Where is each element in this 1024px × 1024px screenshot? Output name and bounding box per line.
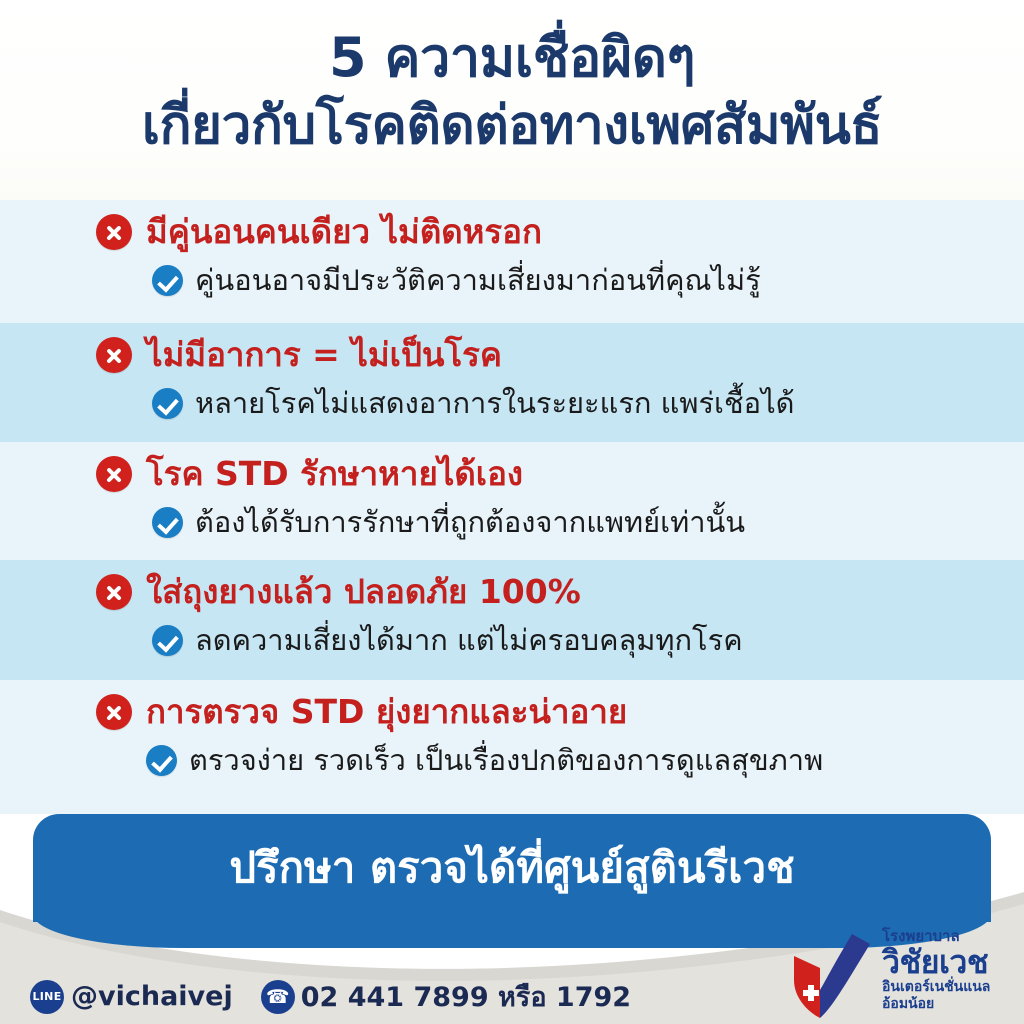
list-item: การตรวจ STD ยุ่งยากและน่าอาย ตรวจง่าย รว… (0, 680, 1024, 814)
list-item: มีคู่นอนคนเดียว ไม่ติดหรอก คู่นอนอาจมีปร… (0, 200, 1024, 323)
cross-icon (96, 214, 132, 250)
check-icon (146, 745, 177, 776)
cta-label: ปรึกษา ตรวจได้ที่ศูนย์สูตินรีเวช (33, 844, 991, 892)
phone-number-label: 02 441 7899 หรือ 1792 (301, 975, 631, 1018)
fact-text: ต้องได้รับการรักษาที่ถูกต้องจากแพทย์เท่า… (195, 506, 745, 538)
myth-list: มีคู่นอนคนเดียว ไม่ติดหรอก คู่นอนอาจมีปร… (0, 200, 1024, 814)
check-icon (152, 388, 183, 419)
check-icon (152, 625, 183, 656)
list-item: ใส่ถุงยางแล้ว ปลอดภัย 100% ลดความเสี่ยงไ… (0, 560, 1024, 680)
logo-checkmark-icon (786, 928, 878, 1020)
cross-icon (96, 337, 132, 373)
line-icon[interactable]: LINE (30, 980, 64, 1014)
myth-line-3: โรค STD รักษาหายได้เอง (96, 456, 523, 492)
cross-icon (96, 694, 132, 730)
myth-text: ไม่มีอาการ = ไม่เป็นโรค (146, 337, 502, 373)
cross-icon (96, 574, 132, 610)
fact-line-4: ลดความเสี่ยงได้มาก แต่ไม่ครอบคลุมทุกโรค (152, 624, 743, 656)
list-item: โรค STD รักษาหายได้เอง ต้องได้รับการรักษ… (0, 442, 1024, 560)
hospital-logo: โรงพยาบาล วิชัยเวช อินเตอร์เนชั่นแนล อ้อ… (786, 928, 1016, 1024)
contact-row: LINE @vichaivej ☎ 02 441 7899 หรือ 1792 (30, 975, 631, 1018)
logo-line-2: วิชัยเวช (882, 945, 1016, 979)
myth-text: การตรวจ STD ยุ่งยากและน่าอาย (146, 694, 627, 730)
page-title-line2: เกี่ยวกับโรคติดต่อทางเพศสัมพันธ์ (0, 96, 1024, 156)
myth-line-4: ใส่ถุงยางแล้ว ปลอดภัย 100% (96, 574, 581, 610)
myth-line-5: การตรวจ STD ยุ่งยากและน่าอาย (96, 694, 627, 730)
header-section: 5 ความเชื่อผิดๆ เกี่ยวกับโรคติดต่อทางเพศ… (0, 0, 1024, 200)
fact-line-5: ตรวจง่าย รวดเร็ว เป็นเรื่องปกติของการดูแ… (146, 744, 823, 776)
phone-icon[interactable]: ☎ (261, 980, 295, 1014)
cross-icon (96, 456, 132, 492)
page-title-line1: 5 ความเชื่อผิดๆ (0, 28, 1024, 88)
check-icon (152, 265, 183, 296)
logo-line-4: อ้อมน้อย (882, 996, 1016, 1013)
myth-line-2: ไม่มีอาการ = ไม่เป็นโรค (96, 337, 502, 373)
infographic-poster: 5 ความเชื่อผิดๆ เกี่ยวกับโรคติดต่อทางเพศ… (0, 0, 1024, 1024)
fact-line-1: คู่นอนอาจมีประวัติความเสี่ยงมาก่อนที่คุณ… (152, 264, 761, 296)
list-item: ไม่มีอาการ = ไม่เป็นโรค หลายโรคไม่แสดงอา… (0, 323, 1024, 442)
myth-text: มีคู่นอนคนเดียว ไม่ติดหรอก (146, 214, 542, 250)
fact-line-3: ต้องได้รับการรักษาที่ถูกต้องจากแพทย์เท่า… (152, 506, 745, 538)
fact-text: หลายโรคไม่แสดงอาการในระยะแรก แพร่เชื้อได… (195, 387, 794, 419)
fact-text: คู่นอนอาจมีประวัติความเสี่ยงมาก่อนที่คุณ… (195, 264, 761, 296)
myth-text: โรค STD รักษาหายได้เอง (146, 456, 523, 492)
logo-wordmark: โรงพยาบาล วิชัยเวช อินเตอร์เนชั่นแนล อ้อ… (882, 928, 1016, 1013)
fact-line-2: หลายโรคไม่แสดงอาการในระยะแรก แพร่เชื้อได… (152, 387, 794, 419)
fact-text: ลดความเสี่ยงได้มาก แต่ไม่ครอบคลุมทุกโรค (195, 624, 743, 656)
fact-text: ตรวจง่าย รวดเร็ว เป็นเรื่องปกติของการดูแ… (189, 744, 823, 776)
check-icon (152, 507, 183, 538)
myth-line-1: มีคู่นอนคนเดียว ไม่ติดหรอก (96, 214, 542, 250)
myth-text: ใส่ถุงยางแล้ว ปลอดภัย 100% (146, 574, 581, 610)
line-id-label: @vichaivej (71, 981, 233, 1012)
logo-line-3: อินเตอร์เนชั่นแนล (882, 979, 1016, 996)
